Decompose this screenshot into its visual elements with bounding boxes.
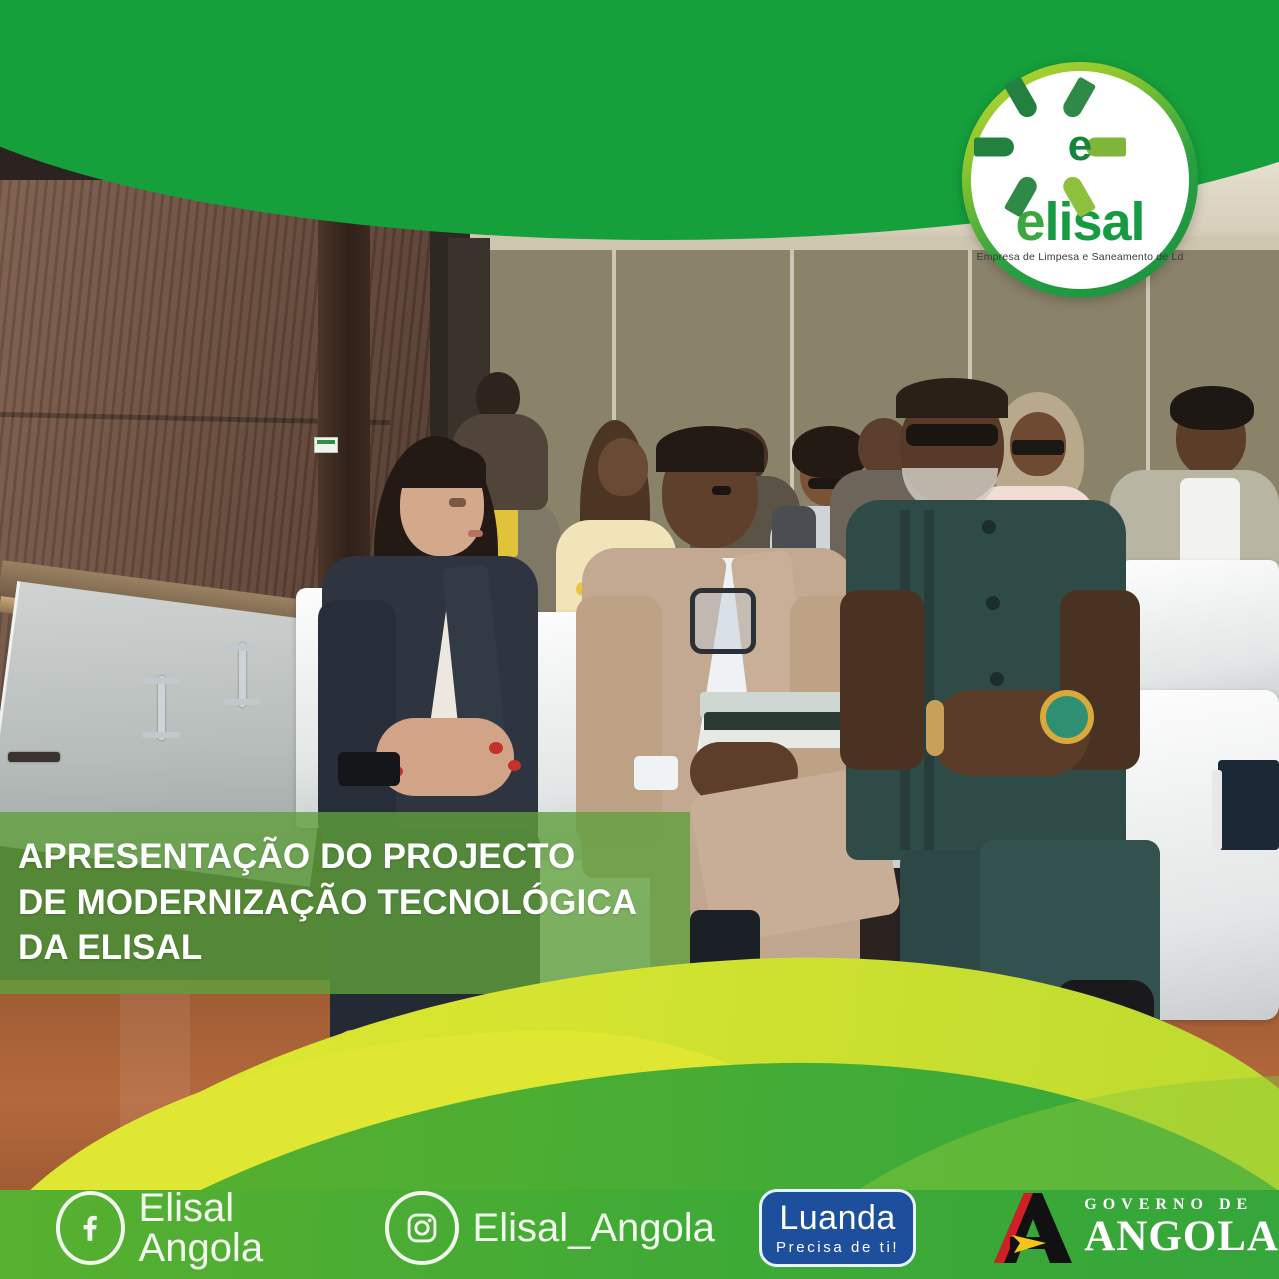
instagram-link[interactable]: Elisal_Angola xyxy=(385,1191,715,1265)
luanda-slogan: Precisa de ti! xyxy=(776,1240,899,1255)
man-teal-arm xyxy=(840,590,924,770)
governo-angola-logo: GOVERNO DE ANGOLA xyxy=(994,1191,1279,1265)
cabinet-handle xyxy=(158,676,165,740)
angola-a-mark xyxy=(994,1191,1072,1265)
petal xyxy=(974,138,1014,157)
cabinet-handle xyxy=(8,752,60,762)
man-tan-arm xyxy=(576,596,662,846)
chair-cover xyxy=(1120,560,1279,710)
eyeglasses-hanging xyxy=(690,588,756,654)
shirt-button xyxy=(986,596,1000,610)
elisal-logo: e elisal Empresa de Limpesa e Saneamento… xyxy=(962,62,1198,298)
audience-head xyxy=(598,438,648,496)
title-banner: APRESENTAÇÃO DO PROJECTO DE MODERNIZAÇÃO… xyxy=(0,812,690,994)
cabinet-handle-bar xyxy=(142,732,180,738)
shirt-cuff xyxy=(634,756,678,790)
man-eye xyxy=(712,486,731,495)
nail xyxy=(508,760,521,771)
man-tan-hair xyxy=(656,426,764,472)
elisal-petal-mark: e xyxy=(1026,97,1134,197)
woman-eye xyxy=(449,498,466,507)
facebook-icon[interactable] xyxy=(56,1191,125,1265)
page-title: APRESENTAÇÃO DO PROJECTO DE MODERNIZAÇÃO… xyxy=(18,834,668,971)
nail xyxy=(489,742,503,754)
elisal-tagline: Empresa de Limpesa e Saneamento de Ld xyxy=(976,252,1183,263)
elisal-mark-letter: e xyxy=(1068,125,1092,169)
instagram-handle[interactable]: Elisal_Angola xyxy=(473,1208,715,1248)
wristwatch xyxy=(1040,690,1094,744)
instagram-icon[interactable] xyxy=(385,1191,459,1265)
title-line-1: APRESENTAÇÃO DO PROJECTO xyxy=(18,834,668,880)
petal xyxy=(1060,77,1096,121)
man-teal-hair xyxy=(896,378,1008,418)
cabinet-handle-bar xyxy=(223,699,261,705)
shirt-button xyxy=(990,672,1004,686)
cabinet-handle xyxy=(239,643,246,707)
governo-line-2: ANGOLA xyxy=(1084,1215,1279,1258)
shirt-button xyxy=(982,520,996,534)
luanda-name: Luanda xyxy=(779,1201,895,1235)
notebook-spiral xyxy=(1212,770,1222,850)
title-line-2: DE MODERNIZAÇÃO TECNOLÓGICA xyxy=(18,880,668,926)
luanda-badge[interactable]: Luanda Precisa de ti! xyxy=(759,1189,916,1267)
woman-arm xyxy=(318,600,396,840)
notebook xyxy=(1218,760,1279,850)
eyeglasses xyxy=(906,424,998,446)
eyeglasses xyxy=(1012,440,1064,455)
bracelet xyxy=(926,700,944,756)
cabinet-handle-bar xyxy=(142,678,180,684)
audience-hair xyxy=(1170,386,1254,430)
woman-lips xyxy=(468,530,483,537)
facebook-handle[interactable]: Elisal Angola xyxy=(139,1188,349,1268)
facebook-link[interactable]: Elisal Angola xyxy=(56,1188,349,1268)
wordmark-rest: lisal xyxy=(1044,192,1144,252)
exit-sign xyxy=(314,437,338,453)
smartphone xyxy=(338,752,400,786)
shirt-pleat xyxy=(924,510,934,850)
cabinet-handle-bar xyxy=(223,645,261,651)
footer-bar: Elisal Angola Elisal_Angola Luanda Preci… xyxy=(0,1176,1279,1279)
title-line-3: DA ELISAL xyxy=(18,925,668,971)
woman-fringe xyxy=(398,444,486,488)
governo-line-1: GOVERNO DE xyxy=(1084,1197,1279,1213)
poster-canvas: e elisal Empresa de Limpesa e Saneamento… xyxy=(0,0,1279,1279)
petal xyxy=(1004,77,1040,121)
